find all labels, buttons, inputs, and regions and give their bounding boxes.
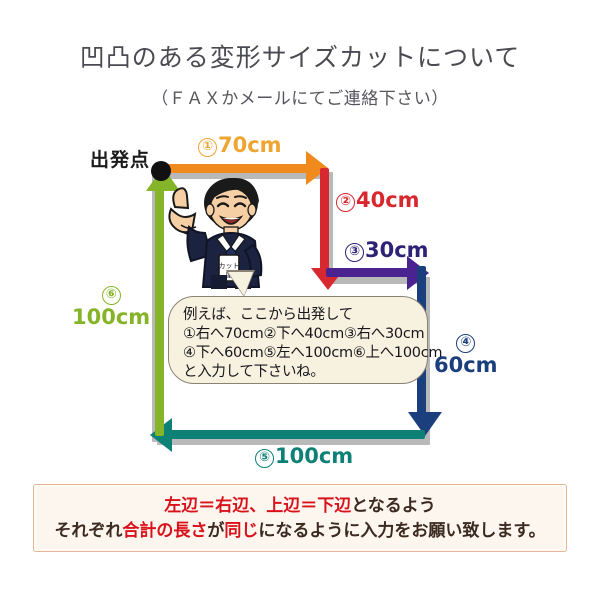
segment-2-line	[320, 168, 329, 273]
bubble-line-2: ①右へ70cm②下へ40cm③右へ30cm	[183, 325, 415, 344]
speech-bubble: 例えば、ここから出発して ①右へ70cm②下へ40cm③右へ30cm ④下へ60…	[168, 296, 428, 384]
segment-3-line	[326, 268, 411, 277]
segment-5-label: ⑤100cm	[255, 444, 353, 468]
segment-1-marker: ①	[198, 138, 217, 157]
note-line-1-text: となるよう	[351, 496, 436, 516]
segment-5-line	[168, 430, 425, 439]
note-line-2: それぞれ合計の長さが同じになるように入力をお願い致します。	[34, 519, 566, 544]
speech-bubble-tail	[228, 272, 253, 296]
note-line-2-text-c: になるように入力をお願い致します。	[258, 521, 545, 541]
segment-3-value: 30cm	[365, 238, 429, 262]
note-line-2-emphasis-a: 合計の長さ	[122, 521, 207, 541]
note-line-1-emphasis-b: 上辺＝下辺	[266, 496, 351, 516]
page-title: 凹凸のある変形サイズカットについて	[0, 38, 600, 74]
note-line-2-text-b: が	[207, 521, 224, 541]
bubble-line-1: 例えば、ここから出発して	[183, 306, 415, 325]
segment-6-marker: ⑥	[102, 286, 121, 305]
note-box: 左辺＝右辺、上辺＝下辺となるよう それぞれ合計の長さが同じになるように入力をお願…	[33, 484, 567, 552]
segment-2-value: 40cm	[356, 188, 420, 212]
bubble-line-4: と入力して下さいね。	[183, 363, 415, 382]
segment-3-label: ③30cm	[345, 238, 429, 262]
segment-6-value: 100cm	[72, 307, 150, 328]
note-line-2-emphasis-b: 同じ	[224, 521, 258, 541]
segment-3-marker: ③	[345, 243, 364, 262]
segment-4-value: 60cm	[434, 355, 498, 376]
segment-2-label: ②40cm	[336, 188, 420, 212]
segment-1-value: 70cm	[218, 133, 282, 157]
segment-2-marker: ②	[336, 193, 355, 212]
svg-text:カット: カット	[219, 262, 240, 270]
page-subtitle: （ＦＡＸかメールにてご連絡下さい）	[0, 84, 600, 109]
segment-5-marker: ⑤	[255, 449, 274, 468]
diagram-canvas: 凹凸のある変形サイズカットについて （ＦＡＸかメールにてご連絡下さい） ①70c…	[0, 0, 600, 600]
segment-4-label: ④60cm	[434, 334, 498, 376]
note-line-1-emphasis-a: 左辺＝右辺、	[164, 496, 266, 516]
segment-1-label: ①70cm	[198, 133, 282, 157]
segment-5-value: 100cm	[275, 444, 353, 468]
segment-4-marker: ④	[456, 334, 475, 353]
note-line-1: 左辺＝右辺、上辺＝下辺となるよう	[34, 494, 566, 519]
note-line-2-text-a: それぞれ	[54, 521, 122, 541]
start-point-label: 出発点	[90, 145, 150, 172]
character-illustration: カット 屋	[163, 165, 273, 290]
bubble-line-3: ④下へ60cm⑤左へ100cm⑥上へ100cm	[183, 344, 415, 363]
segment-6-label: ⑥100cm	[72, 286, 150, 328]
